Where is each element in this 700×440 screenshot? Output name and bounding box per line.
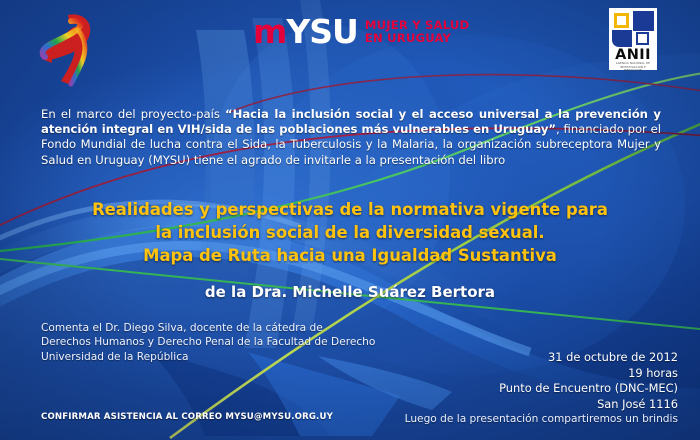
commenter-line2: Derechos Humanos y Derecho Penal de la F… <box>41 335 375 349</box>
anii-square-blue-filled <box>633 11 654 31</box>
event-time: 19 horas <box>405 366 678 382</box>
mysu-wordmark-ysu: YSU <box>286 12 357 51</box>
mysu-wordmark: mYSU <box>253 17 358 47</box>
anii-name: ANII <box>612 48 654 62</box>
book-title-line1: Realidades y perspectivas de la normativ… <box>50 198 650 221</box>
event-details-block: 31 de octubre de 2012 19 horas Punto de … <box>405 350 678 428</box>
mysu-tagline: MUJER Y SALUD EN URUGUAY <box>365 19 470 45</box>
book-author: de la Dra. Michelle Suárez Bertora <box>50 283 650 301</box>
commenter-line3: Universidad de la República <box>41 350 375 364</box>
event-address: San José 1116 <box>405 397 678 413</box>
event-date: 31 de octubre de 2012 <box>405 350 678 366</box>
anii-square-yellow-outline <box>614 13 629 28</box>
book-title-line3: Mapa de Ruta hacia una Igualdad Sustanti… <box>50 244 650 267</box>
anii-square-blue-outline <box>636 32 649 45</box>
anii-logo: ANII AGENCIA NACIONAL DE INVESTIGACION E… <box>609 8 657 70</box>
book-title-line2: la inclusión social de la diversidad sex… <box>50 221 650 244</box>
mysu-logo: mYSU MUJER Y SALUD EN URUGUAY <box>253 17 469 47</box>
mysu-tagline-line2: EN URUGUAY <box>365 32 470 45</box>
rsvp-notice: CONFIRMAR ASISTENCIA AL CORREO MYSU@MYSU… <box>41 412 333 422</box>
event-closing-note: Luego de la presentación compartiremos u… <box>405 412 678 428</box>
book-title: Realidades y perspectivas de la normativ… <box>50 198 650 267</box>
commenter-line1: Comenta el Dr. Diego Silva, docente de l… <box>41 321 375 335</box>
anii-subtitle-line2: INVESTIGACION E INNOVACION <box>612 66 654 73</box>
mysu-wordmark-m: m <box>253 12 286 51</box>
event-venue: Punto de Encuentro (DNC-MEC) <box>405 381 678 397</box>
rainbow-aids-ribbon-icon <box>36 9 104 89</box>
anii-square-blue-rounded <box>612 30 632 47</box>
event-invitation-poster: mYSU MUJER Y SALUD EN URUGUAY ANII AGENC… <box>0 0 700 440</box>
intro-text-part1: En el marco del proyecto-país <box>41 107 225 121</box>
commenter-block: Comenta el Dr. Diego Silva, docente de l… <box>41 321 375 364</box>
anii-logo-squares <box>612 11 654 47</box>
intro-paragraph: En el marco del proyecto-país “Hacia la … <box>41 107 661 169</box>
